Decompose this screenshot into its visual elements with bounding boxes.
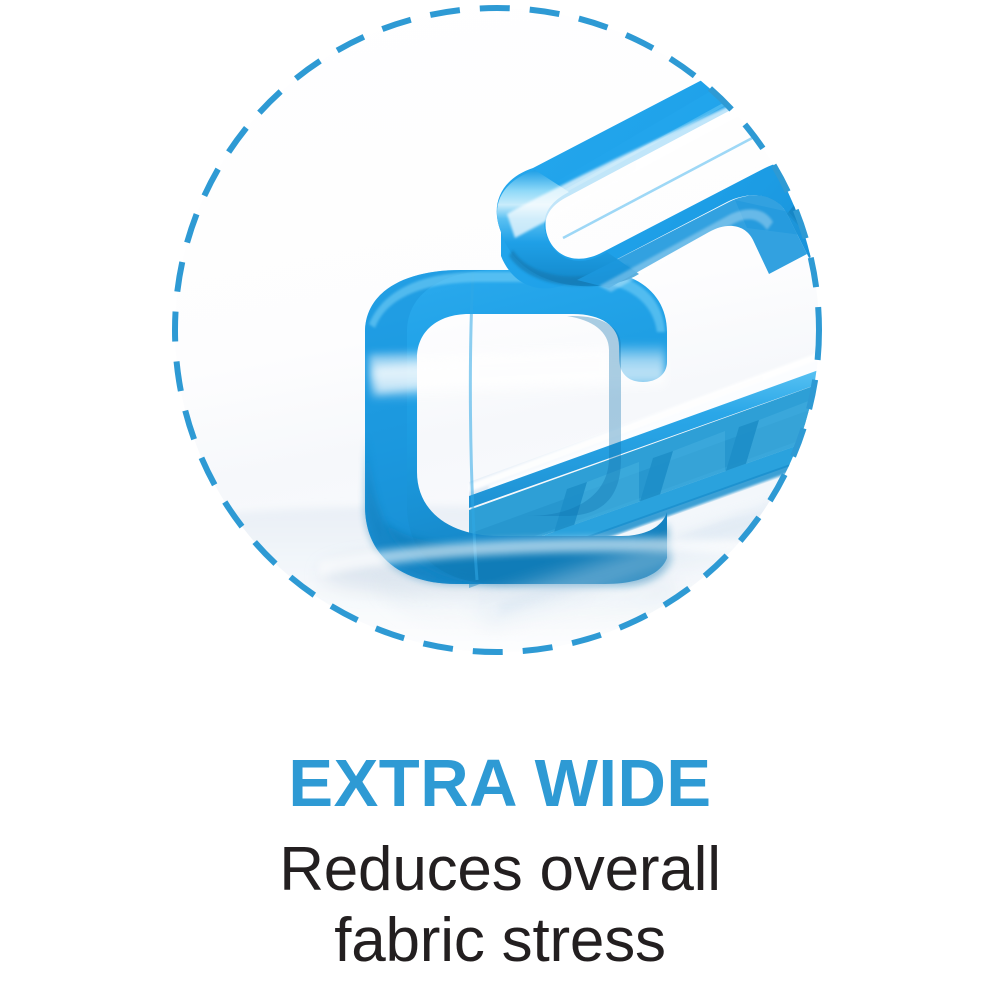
feature-headline: EXTRA WIDE [0,748,1000,820]
product-feature-card: EXTRA WIDE Reduces overall fabric stress [0,0,1000,1000]
feature-subhead-line-1: Reduces overall [0,834,1000,905]
upper-clip-right-wall [809,142,825,258]
caption-block: EXTRA WIDE Reduces overall fabric stress [0,748,1000,976]
product-image-circle [169,2,825,658]
product-photo-svg [169,2,825,658]
feature-subhead: Reduces overall fabric stress [0,820,1000,976]
feature-subhead-line-2: fabric stress [0,905,1000,976]
